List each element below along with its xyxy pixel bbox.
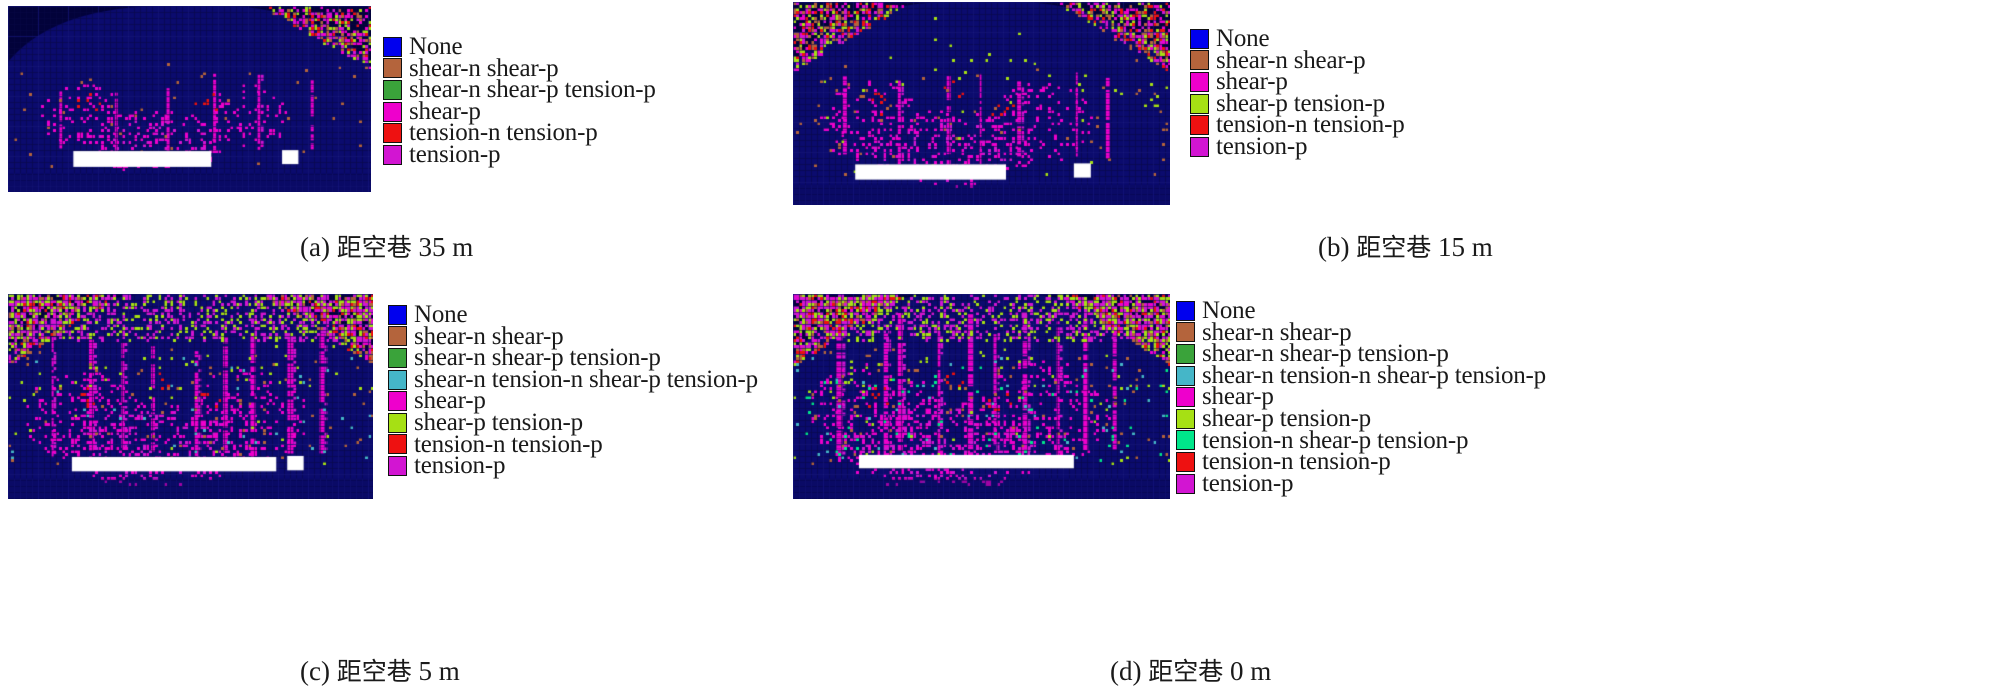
legend-b: None shear-n shear-p shear-p shear-p ten… xyxy=(1190,28,1405,158)
plasticity-contour-d xyxy=(793,294,1170,499)
legend-c: None shear-n shear-p shear-n shear-p ten… xyxy=(388,304,758,477)
legend-swatch-shear-n-shear-p xyxy=(388,326,407,346)
legend-swatch-tension-p xyxy=(1190,137,1209,157)
legend-swatch-tension-n-tension-p xyxy=(388,434,407,454)
caption-label: (b) xyxy=(1318,232,1349,262)
legend-item[interactable]: tension-p xyxy=(1176,473,1546,495)
caption-label: (a) xyxy=(300,232,330,262)
legend-swatch-tension-n-tension-p xyxy=(1190,115,1209,135)
caption-unit: m xyxy=(452,232,473,262)
legend-swatch-tension-n-tension-p xyxy=(383,123,402,143)
legend-item[interactable]: tension-p xyxy=(1190,136,1405,158)
legend-a: None shear-n shear-p shear-n shear-p ten… xyxy=(383,36,656,166)
legend-swatch-shear-p-tension-p xyxy=(388,413,407,433)
legend-label: tension-p xyxy=(1202,473,1293,495)
legend-label: tension-p xyxy=(414,455,505,477)
legend-swatch-tension-p xyxy=(1176,474,1195,494)
legend-swatch-shear-n-shear-p xyxy=(1190,50,1209,70)
plasticity-contour-c xyxy=(8,294,373,499)
legend-swatch-none xyxy=(383,37,402,57)
legend-swatch-none xyxy=(1176,301,1195,321)
legend-swatch-shear-p xyxy=(1176,387,1195,407)
legend-swatch-tension-p xyxy=(388,456,407,476)
caption-value: 0 xyxy=(1230,656,1244,686)
legend-label: tension-p xyxy=(409,144,500,166)
caption-value: 35 xyxy=(418,232,445,262)
panel-a xyxy=(8,6,371,192)
legend-item[interactable]: tension-p xyxy=(388,455,758,477)
legend-swatch-shear-n-shear-p-tension-p xyxy=(383,80,402,100)
plot-c[interactable] xyxy=(8,294,373,499)
legend-swatch-shear-n-shear-p-tension-p xyxy=(388,348,407,368)
caption-value: 15 xyxy=(1438,232,1465,262)
caption-unit: m xyxy=(439,656,460,686)
caption-unit: m xyxy=(1472,232,1493,262)
panel-d xyxy=(793,294,1170,499)
legend-swatch-shear-p-tension-p xyxy=(1190,94,1209,114)
legend-swatch-none xyxy=(388,305,407,325)
plasticity-contour-a xyxy=(8,6,371,192)
caption-a: (a) 距空巷 35 m xyxy=(300,228,473,264)
legend-swatch-shear-n-shear-p xyxy=(383,58,402,78)
caption-value: 5 xyxy=(418,656,432,686)
caption-b: (b) 距空巷 15 m xyxy=(1318,228,1493,264)
legend-label: tension-p xyxy=(1216,136,1307,158)
legend-item[interactable]: tension-p xyxy=(383,144,656,166)
caption-d: (d) 距空巷 0 m xyxy=(1110,652,1271,688)
legend-swatch-shear-n-shear-p-tension-p xyxy=(1176,344,1195,364)
plot-a[interactable] xyxy=(8,6,371,192)
legend-swatch-shear-p-tension-p xyxy=(1176,409,1195,429)
legend-swatch-none xyxy=(1190,29,1209,49)
legend-swatch-tension-p xyxy=(383,145,402,165)
caption-label: (c) xyxy=(300,656,330,686)
legend-d: None shear-n shear-p shear-n shear-p ten… xyxy=(1176,300,1546,494)
caption-cn: 距空巷 xyxy=(1356,233,1431,262)
legend-swatch-shear-n-tension-n-shear-p-tension-p xyxy=(1176,366,1195,386)
panel-b xyxy=(793,2,1170,205)
legend-swatch-shear-n-tension-n-shear-p-tension-p xyxy=(388,370,407,390)
caption-cn: 距空巷 xyxy=(337,657,412,686)
caption-c: (c) 距空巷 5 m xyxy=(300,652,460,688)
legend-swatch-tension-n-tension-p xyxy=(1176,452,1195,472)
legend-swatch-shear-p xyxy=(388,391,407,411)
legend-swatch-shear-p xyxy=(383,102,402,122)
caption-unit: m xyxy=(1250,656,1271,686)
plot-b[interactable] xyxy=(793,2,1170,205)
plasticity-contour-b xyxy=(793,2,1170,205)
caption-cn: 距空巷 xyxy=(1148,657,1223,686)
caption-label: (d) xyxy=(1110,656,1141,686)
plot-d[interactable] xyxy=(793,294,1170,499)
caption-cn: 距空巷 xyxy=(337,233,412,262)
legend-swatch-tension-n-shear-p-tension-p xyxy=(1176,430,1195,450)
panel-c xyxy=(8,294,373,499)
legend-swatch-shear-n-shear-p xyxy=(1176,322,1195,342)
legend-swatch-shear-p xyxy=(1190,72,1209,92)
